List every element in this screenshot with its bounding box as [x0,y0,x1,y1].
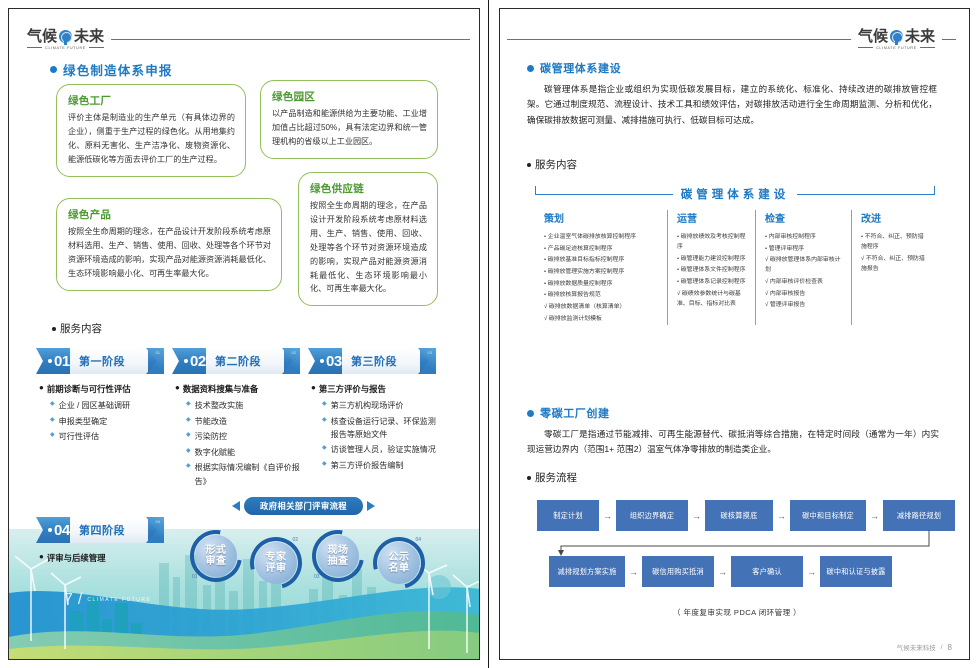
flow-connector [537,530,937,556]
diamond-icon: ◆ [50,399,55,412]
list-item: • 碳排放数据质量控制程序 [544,279,660,289]
phase-label: 第三阶段 [351,353,397,369]
matrix-col-heading: 策划 [544,210,660,225]
card-title: 绿色产品 [68,207,271,222]
diamond-icon: ◆ [322,399,327,412]
right-heading1-text: 碳管理体系建设 [540,60,621,76]
left-page-footer: 7 / CLIMATE FUTURE [64,591,151,609]
matrix-columns: 策划 • 企业温室气体碳排放核算控制程序 • 产品碳足迹核算控制程序 • 碳排放… [535,210,935,325]
logo-rule-right [89,47,104,48]
phase-items: ◆技术整改实施 ◆节能改造 ◆污染防控 ◆数字化赋能 ◆根据实际情况编制《自评价… [175,399,300,488]
phase-label: 第四阶段 [79,522,125,538]
list-item: • 产品碳足迹核算控制程序 [544,244,660,254]
logo-rule-left [27,47,42,48]
card-green-supply-chain: 绿色供应链 按照全生命周期的理念，在产品设计开发阶段系统考虑原材料选用、生产、销… [298,172,438,306]
arrow-right-icon [367,501,375,511]
card-green-park: 绿色园区 以产品制造和能源供给为主要功能、工业增加值占比超过50%，具有法定边界… [260,80,438,159]
header-rule [111,39,470,40]
header-rule [507,39,851,40]
flag-tiny-number: 02 [292,350,296,355]
right-heading-carbon-system: 碳管理体系建设 [527,60,621,76]
list-item: ◆申报类型确定 [50,415,164,428]
right-page-footer: 气候未来科技 / 8 [897,642,952,652]
card-body: 以产品制造和能源供给为主要功能、工业增加值占比超过50%，具有法定边界和统一管理… [272,107,427,149]
flow-box[interactable]: 碳中和认证与披露 [820,556,892,587]
step-index: 04 [415,537,421,543]
diamond-icon: ◆ [186,446,191,459]
step-ball: 公示 名单 [378,542,420,584]
matrix-col-improve: 改进 • 不符合、纠正、预防措施程序 √ 不符合、纠正、预防措施报告 [851,210,935,325]
step-line2: 名单 [389,563,410,575]
lead-bullet-icon: ● [39,383,44,395]
page-number: 7 [64,591,73,609]
matrix-col-list: • 碳排放绩效及考核控制程序 • 碳管理能力建设控制程序 • 碳管理体系文件控制… [677,232,748,309]
phase-items: ◆企业 / 园区基础调研 ◆申报类型确定 ◆可行性评估 [39,399,164,443]
matrix-col-list: • 内部审核控制程序 • 管理评审程序 √ 碳排放管理体系内部审核计划 √ 内部… [765,232,844,311]
list-item: ◆核查设备运行记录、环保监测报告等原始文件 [322,415,436,441]
matrix-title: 碳管理体系建设 [681,186,790,202]
card-body: 评价主体是制造业的生产单元（有具体边界的企业），侧重于生产过程的绿色化。从用地集… [68,111,235,167]
list-item: √ 内部审核报告 [765,289,844,299]
phase-number: 04 [54,522,70,539]
list-item: √ 碳排放管理体系内部审核计划 [765,255,844,275]
list-item: ◆可行性评估 [50,430,164,443]
bullet-icon [52,327,56,331]
brand-char-2: 未来 [74,29,104,45]
phase-label: 第一阶段 [79,353,125,369]
left-service-label: 服务内容 [60,321,102,336]
list-item: • 碳排放基准目标指标控制程序 [544,255,660,265]
left-section-title: 绿色制造体系申报 [63,60,173,79]
footer-slash: / [941,644,943,651]
flow-box[interactable]: 客户确认 [731,556,803,587]
phase-01[interactable]: 01 第一阶段 01 ● 前期诊断与可行性评估 ◆企业 / 园区基础调研 ◆申报… [36,348,164,446]
arrow-right-icon: → [773,511,790,521]
list-item: √ 管理评审报告 [765,300,844,310]
brand-logo-sub: CLIMATE FUTURE [27,46,104,50]
list-item: • 碳管理体系记录控制程序 [677,277,748,287]
flow-box[interactable]: 减排规划方案实施 [549,556,625,587]
step-index: 01 [192,574,198,580]
list-item: • 管理评审程序 [765,244,844,254]
step-index: 03 [314,574,320,580]
phase-01-list: ● 前期诊断与可行性评估 ◆企业 / 园区基础调研 ◆申报类型确定 ◆可行性评估 [36,383,164,443]
arrow-left-icon [232,501,240,511]
list-item: ◆企业 / 园区基础调研 [50,399,164,412]
phase-number: 03 [326,353,342,370]
phase-lead: ● 数据资料搜集与准备 [175,383,300,395]
flow-note: （ 年度复审实现 PDCA 闭环管理 ） [537,607,937,618]
flag-dot-icon [320,359,324,363]
brand-logo-en: CLIMATE FUTURE [45,46,86,50]
step-line1: 公示 [389,552,410,564]
brand-logo-sub: CLIMATE FUTURE [858,46,935,50]
document-spread: 气候 未来 CLIMATE FUTURE 绿色制造体系申报 绿色工厂 评价主体是… [0,0,978,668]
left-page: 气候 未来 CLIMATE FUTURE 绿色制造体系申报 绿色工厂 评价主体是… [0,0,489,668]
arrow-right-icon: → [866,511,883,521]
bullet-icon [527,476,531,480]
matrix-rule-left [535,194,673,195]
diamond-icon: ◆ [322,415,327,441]
phase-01-flag: 01 第一阶段 01 [36,348,164,374]
step-line1: 专家 [266,552,287,564]
card-body: 按照全生命周期的理念，在产品设计开发阶段系统考虑原材料选用、生产、销售、使用、回… [68,225,271,281]
diamond-icon: ◆ [322,443,327,456]
list-item: ◆第三方评价报告编制 [322,459,436,472]
list-item: √ 碳绩效参数统计与碳基准、目标、指标对比表 [677,289,748,309]
right-service-heading: 服务内容 [527,157,577,172]
step-line1: 形式 [206,545,227,557]
flag-tiny-number: 03 [428,350,432,355]
list-item: ◆节能改造 [186,415,300,428]
phase-03[interactable]: 03 第三阶段 03 ● 第三方评价与报告 ◆第三方机构现场评价 ◆核查设备运行… [308,348,436,475]
flow-box[interactable]: 碳核算摸底 [705,500,773,531]
right-page: 气候 未来 CLIMATE FUTURE 碳管理体系建设 碳管理体系是指企业或组… [489,0,978,668]
flow-row-2: 减排规划方案实施 → 碳信用购买抵消 → 客户确认 → 碳中和认证与披露 [549,556,892,587]
carbon-management-matrix: 碳管理体系建设 策划 • 企业温室气体碳排放核算控制程序 • 产品碳足迹核算控制… [535,186,935,325]
phase-04-label-plate: 第四阶段 [70,517,148,543]
flow-row-1: 制定计划 → 组织边界确定 → 碳核算摸底 → 碳中和目标制定 → 减排路径规划 [537,500,955,531]
phase-number: 02 [190,353,206,370]
step-line2: 抽查 [328,556,349,568]
list-item: ◆技术整改实施 [186,399,300,412]
phase-number: 01 [54,353,70,370]
bullet-icon [50,66,57,73]
matrix-rule-right [797,194,935,195]
bullet-icon [527,163,531,167]
phase-04[interactable]: 04 第四阶段 04 ● 评审与后续管理 [36,517,164,568]
step-index: 02 [292,537,298,543]
matrix-col-list: • 不符合、纠正、预防措施程序 √ 不符合、纠正、预防措施报告 [861,232,928,274]
header-rule-tail [942,39,956,40]
brand-logo: 气候 未来 CLIMATE FUTURE [20,29,111,50]
right-paragraph-1: 碳管理体系是指企业或组织为实现低碳发展目标，建立的系统化、标准化、持续改进的碳排… [527,82,937,128]
card-title: 绿色供应链 [310,181,427,196]
phase-lead: ● 前期诊断与可行性评估 [39,383,164,395]
phase-02-list: ● 数据资料搜集与准备 ◆技术整改实施 ◆节能改造 ◆污染防控 ◆数字化赋能 ◆… [172,383,300,488]
right-service-label: 服务内容 [535,157,577,172]
footer-slash: / [78,591,82,609]
flow-box[interactable]: 碳信用购买抵消 [642,556,714,587]
step-ball: 形式 审查 [195,535,237,577]
flow-box[interactable]: 减排路径规划 [883,500,955,531]
phase-03-flag: 03 第三阶段 03 [308,348,436,374]
flag-dot-icon [48,528,52,532]
matrix-col-heading: 运营 [677,210,748,225]
list-item: √ 内部审核评价检查表 [765,277,844,287]
diamond-icon: ◆ [186,430,191,443]
step-circle-03[interactable]: 现场 抽查 03 [312,530,364,582]
bullet-icon [527,410,534,417]
diamond-icon: ◆ [186,399,191,412]
footer-brand: 气候未来科技 [897,642,936,652]
list-item: √ 不符合、纠正、预防措施报告 [861,254,928,274]
card-green-factory: 绿色工厂 评价主体是制造业的生产单元（有具体边界的企业），侧重于生产过程的绿色化… [56,84,246,177]
logo-rule-right [920,47,935,48]
card-body: 按照全生命周期的理念，在产品设计开发阶段系统考虑原材料选用、生产、销售、使用、回… [310,199,427,296]
left-section-heading: 绿色制造体系申报 [50,60,173,79]
list-item: ◆污染防控 [186,430,300,443]
bullet-icon [527,65,534,72]
step-ball: 专家 评审 [255,542,297,584]
list-item: √ 碳排放数据清单（核算清单） [544,302,660,312]
step-circle-04[interactable]: 公示 名单 04 [373,537,425,589]
page-number: 8 [948,643,952,652]
brand-char-1: 气候 [858,29,888,45]
step-circle-01[interactable]: 形式 审查 01 [190,530,242,582]
arrow-right-icon: → [714,567,731,577]
list-item: • 碳排放核算报告规范 [544,290,660,300]
flow-box[interactable]: 制定计划 [537,500,599,531]
phase-lead-text: 数据资料搜集与准备 [183,383,258,395]
brand-char-2: 未来 [905,29,935,45]
phase-03-list: ● 第三方评价与报告 ◆第三方机构现场评价 ◆核查设备运行记录、环保监测报告等原… [308,383,436,472]
right-paragraph-2: 零碳工厂是指通过节能减排、可再生能源替代、碳抵消等综合措施，在特定时间段（通常为… [527,427,939,458]
left-page-header: 气候 未来 CLIMATE FUTURE [20,26,470,52]
diamond-icon: ◆ [186,461,191,487]
step-circle-02[interactable]: 专家 评审 02 [250,537,302,589]
phase-02-flag: 02 第二阶段 02 [172,348,300,374]
phase-02-label-plate: 第二阶段 [206,348,284,374]
matrix-col-check: 检查 • 内部审核控制程序 • 管理评审程序 √ 碳排放管理体系内部审核计划 √… [755,210,851,325]
arrow-right-icon: → [625,567,642,577]
phase-items: ◆第三方机构现场评价 ◆核查设备运行记录、环保监测报告等原始文件 ◆访谈管理人员… [311,399,436,472]
lead-bullet-icon: ● [175,383,180,395]
brand-logo-text: 气候 未来 [27,29,104,45]
list-item: ◆访谈管理人员，验证实施情况 [322,443,436,456]
step-ball: 现场 抽查 [317,535,359,577]
lead-bullet-icon: ● [311,383,316,395]
list-item: • 碳排放管理实施方案控制程序 [544,267,660,277]
phase-02[interactable]: 02 第二阶段 02 ● 数据资料搜集与准备 ◆技术整改实施 ◆节能改造 ◆污染… [172,348,300,490]
left-service-heading: 服务内容 [52,321,102,336]
step-line2: 审查 [206,556,227,568]
card-title: 绿色工厂 [68,93,235,108]
right-page-header: 气候 未来 CLIMATE FUTURE [507,26,956,52]
phase-lead: ● 第三方评价与报告 [311,383,436,395]
gov-banner-label: 政府相关部门评审流程 [244,497,363,515]
diamond-icon: ◆ [322,459,327,472]
lead-bullet-icon: ● [39,552,44,564]
list-item: • 不符合、纠正、预防措施程序 [861,232,928,252]
list-item: • 内部审核控制程序 [765,232,844,242]
list-item: √ 碳排放监测计划模板 [544,314,660,324]
right-flow-label: 服务流程 [535,470,577,485]
list-item: • 企业温室气体碳排放核算控制程序 [544,232,660,242]
list-item: ◆根据实际情况编制《自评价报告》 [186,461,300,487]
logo-rule-left [858,47,873,48]
phase-04-flag: 04 第四阶段 04 [36,517,164,543]
gov-review-banner: 政府相关部门评审流程 [232,497,375,515]
brand-logo-en: CLIMATE FUTURE [876,46,917,50]
footer-slogan: CLIMATE FUTURE [87,597,151,603]
phase-lead-text: 前期诊断与可行性评估 [47,383,131,395]
flow-box[interactable]: 组织边界确定 [616,500,688,531]
diamond-icon: ◆ [186,415,191,428]
diamond-icon: ◆ [50,415,55,428]
matrix-col-list: • 企业温室气体碳排放核算控制程序 • 产品碳足迹核算控制程序 • 碳排放基准目… [544,232,660,324]
phase-04-list: ● 评审与后续管理 [36,552,164,564]
matrix-title-row: 碳管理体系建设 [535,186,935,202]
matrix-col-operate: 运营 • 碳排放绩效及考核控制程序 • 碳管理能力建设控制程序 • 碳管理体系文… [667,210,755,325]
step-line1: 现场 [328,545,349,557]
phase-lead-text: 第三方评价与报告 [319,383,386,395]
brand-char-1: 气候 [27,29,57,45]
list-item: ◆数字化赋能 [186,446,300,459]
step-line2: 评审 [266,563,287,575]
right-flow-heading: 服务流程 [527,470,577,485]
list-item: • 碳排放绩效及考核控制程序 [677,232,748,252]
arrow-right-icon: → [688,511,705,521]
matrix-col-heading: 检查 [765,210,844,225]
phase-03-label-plate: 第三阶段 [342,348,420,374]
matrix-col-plan: 策划 • 企业温室气体碳排放核算控制程序 • 产品碳足迹核算控制程序 • 碳排放… [535,210,667,325]
card-green-product: 绿色产品 按照全生命周期的理念，在产品设计开发阶段系统考虑原材料选用、生产、销售… [56,198,282,291]
phase-label: 第二阶段 [215,353,261,369]
flag-tiny-number: 04 [156,519,160,524]
brand-logo: 气候 未来 CLIMATE FUTURE [851,29,942,50]
phase-lead: ● 评审与后续管理 [39,552,164,564]
right-heading2-text: 零碳工厂创建 [540,405,610,421]
matrix-col-heading: 改进 [861,210,928,225]
brand-logo-text: 气候 未来 [858,29,935,45]
diamond-icon: ◆ [50,430,55,443]
card-title: 绿色园区 [272,89,427,104]
flag-dot-icon [184,359,188,363]
list-item: • 碳管理体系文件控制程序 [677,265,748,275]
flag-dot-icon [48,359,52,363]
arrow-right-icon: → [599,511,616,521]
arrow-right-icon: → [803,567,820,577]
flag-tiny-number: 01 [156,350,160,355]
globe-balloon-icon [890,30,903,43]
right-heading-zero-carbon: 零碳工厂创建 [527,405,610,421]
list-item: • 碳管理能力建设控制程序 [677,254,748,264]
globe-balloon-icon [59,30,72,43]
phase-01-label-plate: 第一阶段 [70,348,148,374]
list-item: ◆第三方机构现场评价 [322,399,436,412]
phase-lead-text: 评审与后续管理 [47,552,106,564]
flow-box[interactable]: 碳中和目标制定 [790,500,866,531]
